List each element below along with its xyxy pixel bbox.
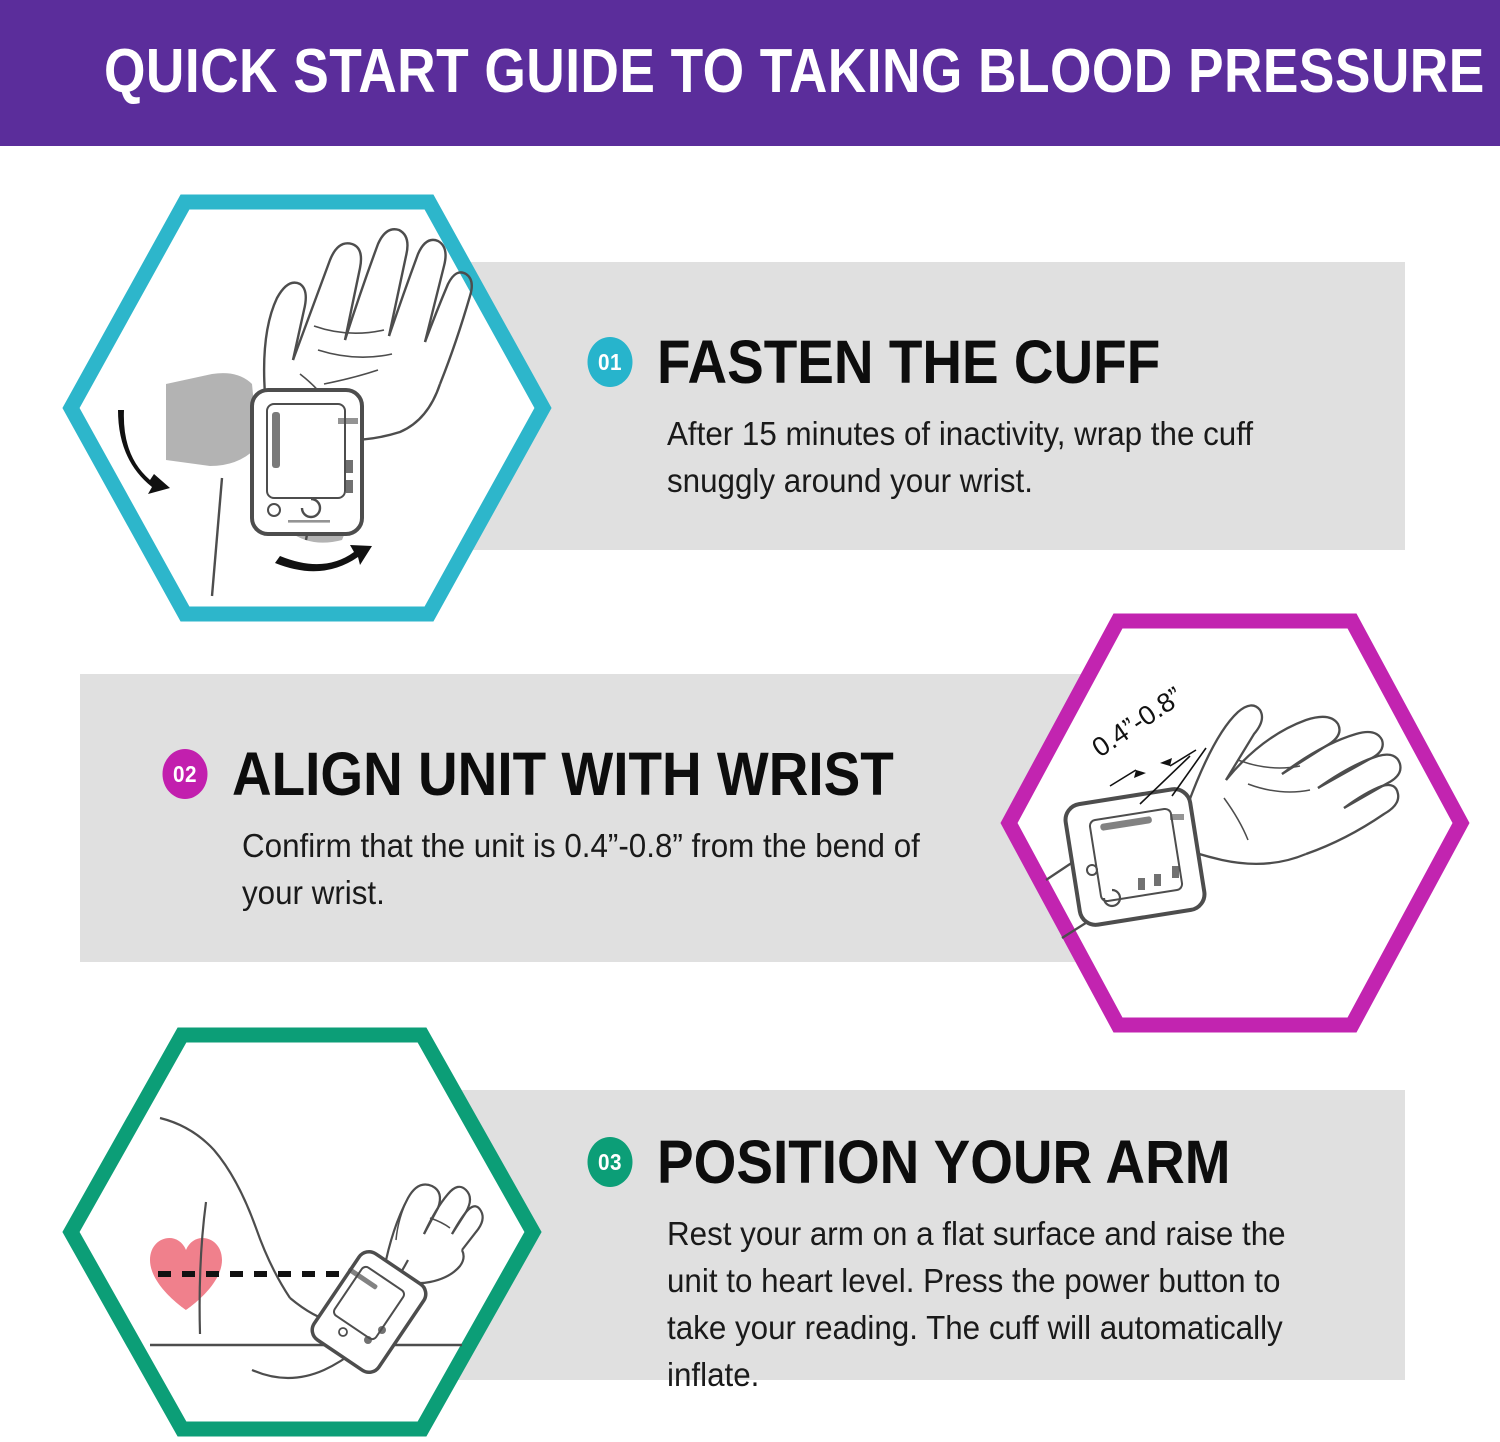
- cuff-strap-left: [166, 373, 258, 466]
- step-1-heading-row: 01 FASTEN THE CUFF: [585, 330, 1375, 394]
- step-2-text: 02 ALIGN UNIT WITH WRIST Confirm that th…: [160, 742, 960, 916]
- step-3-title: POSITION YOUR ARM: [657, 1130, 1230, 1194]
- step-3-text: 03 POSITION YOUR ARM Rest your arm on a …: [585, 1130, 1375, 1398]
- step-1-badge: 01: [588, 337, 633, 387]
- step-3-illustration: [62, 1022, 542, 1442]
- hexagon-outline-green: [71, 1035, 533, 1429]
- wrist-monitor-device: [1063, 787, 1207, 927]
- step-3-heading-row: 03 POSITION YOUR ARM: [585, 1130, 1375, 1194]
- step-1-illustration: [62, 188, 552, 628]
- wrist-monitor-device: [252, 390, 362, 534]
- page-title: QUICK START GUIDE TO TAKING BLOOD PRESSU…: [104, 37, 1485, 107]
- step-2-title: ALIGN UNIT WITH WRIST: [232, 742, 894, 806]
- step-2-illustration: 0.4”-0.8”: [1000, 608, 1470, 1038]
- infographic-page: QUICK START GUIDE TO TAKING BLOOD PRESSU…: [0, 0, 1500, 1442]
- step-2-heading-row: 02 ALIGN UNIT WITH WRIST: [160, 742, 960, 806]
- step-1-text: 01 FASTEN THE CUFF After 15 minutes of i…: [585, 330, 1375, 504]
- step-2-body: Confirm that the unit is 0.4”-0.8” from …: [242, 822, 924, 916]
- step-3-body: Rest your arm on a flat surface and rais…: [667, 1210, 1340, 1398]
- step-1-title: FASTEN THE CUFF: [657, 330, 1160, 394]
- step-3-badge: 03: [588, 1137, 633, 1187]
- header-band: QUICK START GUIDE TO TAKING BLOOD PRESSU…: [0, 0, 1500, 146]
- step-1-body: After 15 minutes of inactivity, wrap the…: [667, 410, 1340, 504]
- step-2-badge: 02: [163, 749, 208, 799]
